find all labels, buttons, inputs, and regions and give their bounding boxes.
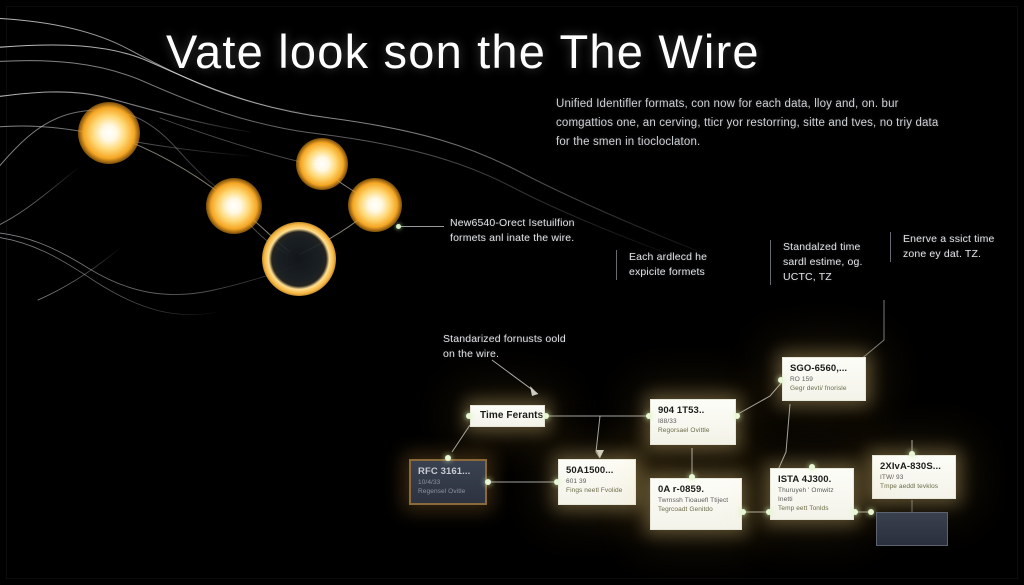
node-dot-rfc-dark-right	[485, 479, 491, 485]
node-dot-iso-2xx-left	[868, 509, 874, 515]
node-title: Time Ferants	[480, 410, 543, 422]
node-dot-ista-right	[852, 509, 858, 515]
node-card-iso-904[interactable]: 904 1T53.. I88/33 Regorsael Ovittle	[650, 399, 736, 445]
node-card-iso-sgo[interactable]: SGO-6560,... RO 159 Gegr devti/ fnorisle	[782, 357, 866, 401]
node-title: ISTA 4J300.	[778, 474, 846, 486]
node-meta: Gegr devti/ fnorisle	[790, 384, 858, 393]
node-title: RFC 3161...	[418, 466, 478, 478]
node-dot-iso-904-left	[646, 413, 652, 419]
node-dot-time-formats-left	[466, 413, 472, 419]
node-dot-iso-904-right	[734, 413, 740, 419]
node-dot-iso-504-left	[554, 479, 560, 485]
diagram-canvas: Vate look son the The Wire Unified Ident…	[0, 0, 1024, 585]
node-subtitle: Thuruyeh ' Omwitz Inetti	[778, 486, 846, 504]
node-subtitle: ITW/ 93	[880, 473, 948, 482]
node-card-iso-504[interactable]: 50A1500... 601 39 Fings neetl Fvolide	[558, 459, 636, 505]
node-dot-rfc-08-top	[689, 474, 695, 480]
node-dot-ista-left	[766, 509, 772, 515]
node-subtitle: RO 159	[790, 375, 858, 384]
node-title: SGO-6560,...	[790, 363, 858, 375]
node-dot-time-formats-right	[543, 413, 549, 419]
node-title: 50A1500...	[566, 465, 628, 477]
node-subtitle: 601 39	[566, 477, 628, 486]
node-meta: Fings neetl Fvolide	[566, 486, 628, 495]
node-subtitle: I88/33	[658, 417, 728, 426]
node-dot-rfc-dark-top	[445, 455, 451, 461]
node-meta: Regensel Ovitle	[418, 487, 478, 496]
node-card-iso-2xx[interactable]: 2XIvA-830S... ITW/ 93 Tmpe aeddl tevklos	[872, 455, 956, 499]
node-dot-iso-sgo-left	[778, 377, 784, 383]
node-subtitle: 10/4/33	[418, 478, 478, 487]
node-card-rfc-dark[interactable]: RFC 3161... 10/4/33 Regensel Ovitle	[409, 459, 487, 505]
node-subtitle: Twrnssh Tioauefl Ttiject	[658, 496, 734, 505]
node-meta: Tmpe aeddl tevklos	[880, 482, 948, 491]
node-connectors	[0, 0, 1024, 585]
node-dot-ista-top	[809, 464, 815, 470]
node-card-bottom-panel[interactable]	[876, 512, 948, 546]
node-meta: Tegrcoadt Genitdo	[658, 505, 734, 514]
node-meta: Regorsael Ovittle	[658, 426, 728, 435]
node-title: 2XIvA-830S...	[880, 461, 948, 473]
node-meta: Temp eett Tonlds	[778, 504, 846, 513]
node-title: 904 1T53..	[658, 405, 728, 417]
node-title: 0A r-0859.	[658, 484, 734, 496]
node-card-rfc-08[interactable]: 0A r-0859. Twrnssh Tioauefl Ttiject Tegr…	[650, 478, 742, 530]
node-dot-iso-2xx-top	[909, 451, 915, 457]
node-card-ista[interactable]: ISTA 4J300. Thuruyeh ' Omwitz Inetti Tem…	[770, 468, 854, 520]
node-dot-rfc-08-right	[740, 509, 746, 515]
node-card-time-formats[interactable]: Time Ferants	[470, 405, 545, 427]
